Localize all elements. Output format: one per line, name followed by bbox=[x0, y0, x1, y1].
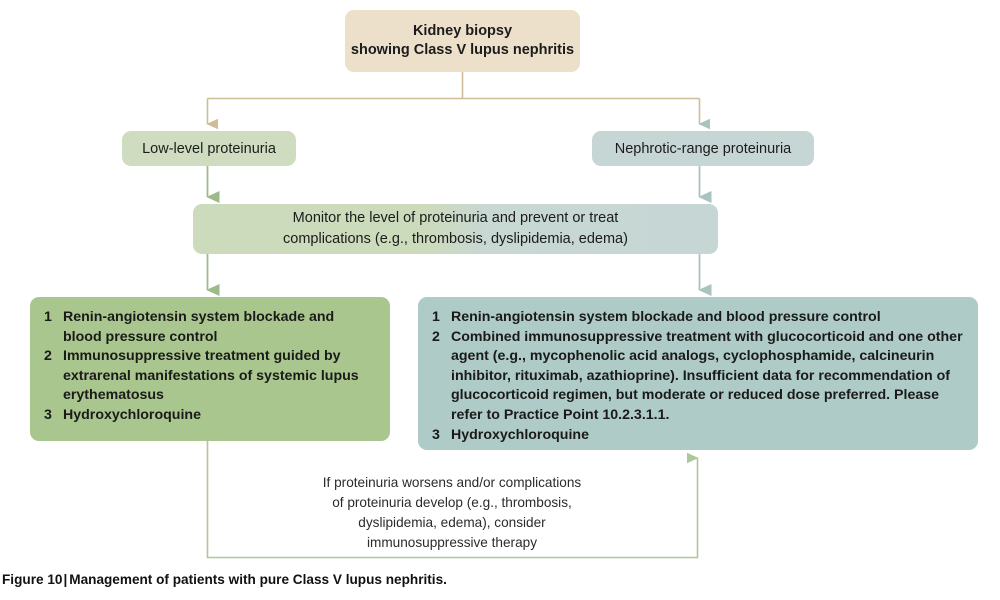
list-item-text: Hydroxychloroquine bbox=[451, 427, 589, 443]
figure-number: Figure 10 bbox=[2, 572, 62, 587]
list-item-number: 1 bbox=[44, 308, 52, 328]
list-item-text: Renin-angiotensin system blockade and bl… bbox=[451, 309, 881, 325]
list-item-text: Renin-angiotensin system blockade and bl… bbox=[63, 309, 334, 345]
list-item-number: 3 bbox=[432, 426, 440, 446]
treatment-nephrotic-list: 1 Renin-angiotensin system blockade and … bbox=[432, 308, 964, 445]
figure-caption: Figure 10|Management of patients with pu… bbox=[2, 572, 447, 587]
feedback-loop-caption: If proteinuria worsens and/or complicati… bbox=[272, 473, 632, 553]
feedback-line2: of proteinuria develop (e.g., thrombosis… bbox=[332, 495, 572, 510]
node-nephrotic-range-proteinuria: Nephrotic-range proteinuria bbox=[592, 131, 814, 166]
node-nephrotic-range-proteinuria-label: Nephrotic-range proteinuria bbox=[615, 141, 792, 157]
node-treatment-low-level: 1 Renin-angiotensin system blockade and … bbox=[30, 297, 390, 441]
node-kidney-biopsy-text: Kidney biopsy showing Class V lupus neph… bbox=[351, 22, 574, 60]
node-monitor-proteinuria-text: Monitor the level of proteinuria and pre… bbox=[283, 208, 628, 250]
list-item: 3 Hydroxychloroquine bbox=[432, 426, 964, 446]
list-item: 3 Hydroxychloroquine bbox=[44, 406, 376, 426]
list-item: 2 Combined immunosuppressive treatment w… bbox=[432, 328, 964, 426]
figure-container: Kidney biopsy showing Class V lupus neph… bbox=[0, 0, 1000, 600]
list-item-number: 3 bbox=[44, 406, 52, 426]
node-monitor-line2: complications (e.g., thrombosis, dyslipi… bbox=[283, 231, 628, 247]
list-item-text: Immunosuppressive treatment guided by ex… bbox=[63, 348, 359, 403]
feedback-line3: dyslipidemia, edema), consider bbox=[358, 515, 545, 530]
figure-caption-text: Management of patients with pure Class V… bbox=[69, 572, 447, 587]
node-monitor-line1: Monitor the level of proteinuria and pre… bbox=[293, 210, 619, 226]
list-item: 1 Renin-angiotensin system blockade and … bbox=[432, 308, 964, 328]
list-item-text: Combined immunosuppressive treatment wit… bbox=[451, 329, 963, 423]
list-item: 1 Renin-angiotensin system blockade and … bbox=[44, 308, 376, 347]
node-low-level-proteinuria: Low-level proteinuria bbox=[122, 131, 296, 166]
node-low-level-proteinuria-label: Low-level proteinuria bbox=[142, 141, 276, 157]
node-kidney-biopsy: Kidney biopsy showing Class V lupus neph… bbox=[345, 10, 580, 72]
list-item-number: 1 bbox=[432, 308, 440, 328]
feedback-line4: immunosuppressive therapy bbox=[367, 535, 537, 550]
node-kidney-biopsy-line2: showing Class V lupus nephritis bbox=[351, 42, 574, 58]
node-treatment-nephrotic-range: 1 Renin-angiotensin system blockade and … bbox=[418, 297, 978, 450]
node-kidney-biopsy-line1: Kidney biopsy bbox=[413, 23, 512, 39]
node-monitor-proteinuria: Monitor the level of proteinuria and pre… bbox=[193, 204, 718, 254]
feedback-line1: If proteinuria worsens and/or complicati… bbox=[323, 475, 581, 490]
list-item-number: 2 bbox=[432, 328, 440, 348]
treatment-low-level-list: 1 Renin-angiotensin system blockade and … bbox=[44, 308, 376, 426]
list-item-text: Hydroxychloroquine bbox=[63, 407, 201, 423]
list-item-number: 2 bbox=[44, 347, 52, 367]
list-item: 2 Immunosuppressive treatment guided by … bbox=[44, 347, 376, 406]
